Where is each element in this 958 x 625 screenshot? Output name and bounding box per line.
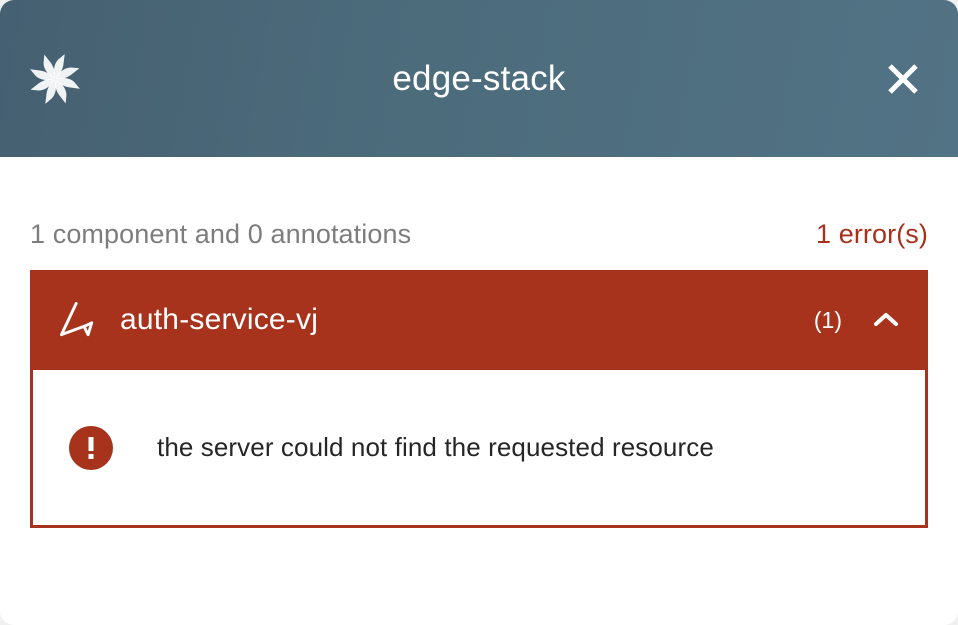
ambassador-service-icon xyxy=(56,298,100,342)
content-area: 1 component and 0 annotations 1 error(s)… xyxy=(0,157,958,528)
application-window: edge-stack 1 component and 0 annotations… xyxy=(0,0,958,625)
close-icon xyxy=(883,59,923,99)
title-bar: edge-stack xyxy=(0,0,958,157)
error-count-label: 1 error(s) xyxy=(816,219,928,250)
summary-row: 1 component and 0 annotations 1 error(s) xyxy=(30,157,928,270)
component-card: auth-service-vj (1) the server could not… xyxy=(30,270,928,528)
close-button[interactable] xyxy=(880,56,926,102)
chevron-up-icon xyxy=(869,303,903,337)
component-error-count: (1) xyxy=(814,307,842,334)
error-list: the server could not find the requested … xyxy=(33,370,925,525)
alert-exclamation-icon xyxy=(69,426,113,470)
error-message: the server could not find the requested … xyxy=(157,432,714,463)
pinwheel-logo-icon xyxy=(28,52,82,106)
component-card-header[interactable]: auth-service-vj (1) xyxy=(30,270,928,370)
summary-label: 1 component and 0 annotations xyxy=(30,219,411,250)
collapse-toggle-button[interactable] xyxy=(868,302,904,338)
window-title: edge-stack xyxy=(0,59,958,99)
component-name: auth-service-vj xyxy=(120,303,814,337)
exclamation-glyph-icon xyxy=(69,426,113,470)
